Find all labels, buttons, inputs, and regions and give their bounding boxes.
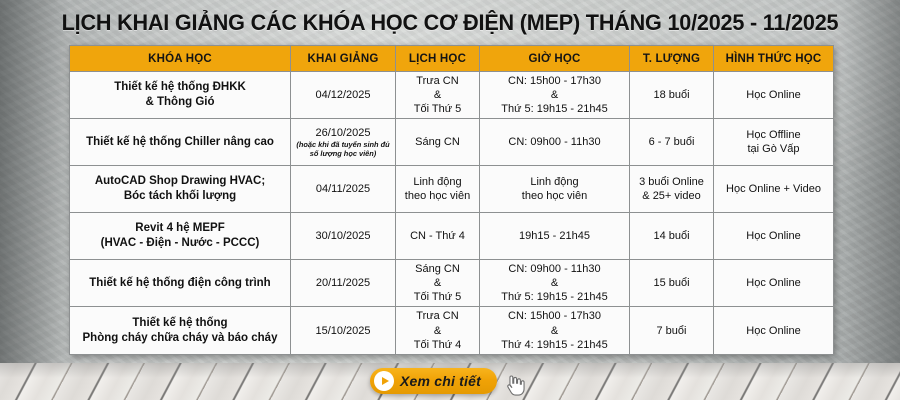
cell-hours: CN: 09h00 - 11h30	[480, 119, 630, 166]
schedule-line1: Trưa CN	[399, 309, 476, 323]
cell-start-date: 26/10/2025 (hoặc khi đã tuyển sinh đủ số…	[291, 119, 396, 166]
cell-course: AutoCAD Shop Drawing HVAC; Bóc tách khối…	[70, 166, 291, 213]
start-date-note: (hoặc khi đã tuyển sinh đủ số lượng học …	[294, 141, 392, 158]
course-schedule-table: KHÓA HỌC KHAI GIẢNG LỊCH HỌC GIỜ HỌC T. …	[69, 45, 834, 355]
cell-hours: 19h15 - 21h45	[480, 213, 630, 260]
column-header-schedule: LỊCH HỌC	[396, 46, 480, 72]
start-date: 04/11/2025	[294, 182, 392, 196]
cell-format: Học Online	[714, 260, 834, 307]
poster-canvas: LỊCH KHAI GIẢNG CÁC KHÓA HỌC CƠ ĐIỆN (ME…	[0, 0, 900, 400]
course-name-line2: Phòng cháy chữa cháy và báo cháy	[73, 331, 287, 346]
hours-line3: Thứ 5: 19h15 - 21h45	[483, 290, 626, 304]
table-row: Revit 4 hệ MEPF (HVAC - Điện - Nước - PC…	[70, 213, 834, 260]
cell-course: Thiết kế hệ thống Chiller nâng cao	[70, 119, 291, 166]
schedule-line2: theo học viên	[399, 189, 476, 203]
schedule-line1: Trưa CN	[399, 74, 476, 88]
schedule-line1: Sáng CN	[399, 135, 476, 149]
cell-duration: 7 buổi	[630, 307, 714, 354]
table-header-row: KHÓA HỌC KHAI GIẢNG LỊCH HỌC GIỜ HỌC T. …	[70, 46, 834, 72]
cell-hours: Linh động theo học viên	[480, 166, 630, 213]
course-name-line1: AutoCAD Shop Drawing HVAC;	[73, 174, 287, 189]
wall-shadow-right	[840, 0, 900, 366]
cell-format: Học Online	[714, 72, 834, 119]
schedule-line3: Tối Thứ 5	[399, 102, 476, 116]
cell-start-date: 30/10/2025	[291, 213, 396, 260]
schedule-line3: Tối Thứ 5	[399, 290, 476, 304]
duration-line1: 15 buổi	[633, 276, 710, 290]
course-name-line1: Thiết kế hệ thống Chiller nâng cao	[73, 135, 287, 150]
course-name-line1: Revit 4 hệ MEPF	[73, 221, 287, 236]
cell-start-date: 15/10/2025	[291, 307, 396, 354]
course-name-line1: Thiết kế hệ thống ĐHKK	[73, 80, 287, 95]
duration-line1: 6 - 7 buổi	[633, 135, 710, 149]
table-row: Thiết kế hệ thống Chiller nâng cao 26/10…	[70, 119, 834, 166]
schedule-line2: &	[399, 88, 476, 102]
format-line1: Học Online + Video	[717, 182, 830, 196]
cell-format: Học Online	[714, 307, 834, 354]
start-date: 15/10/2025	[294, 324, 392, 338]
cell-duration: 18 buổi	[630, 72, 714, 119]
hours-line2: &	[483, 276, 626, 290]
column-header-start: KHAI GIẢNG	[291, 46, 396, 72]
cell-start-date: 20/11/2025	[291, 260, 396, 307]
cell-duration: 15 buổi	[630, 260, 714, 307]
cell-course: Thiết kế hệ thống Phòng cháy chữa cháy v…	[70, 307, 291, 354]
schedule-line2: &	[399, 276, 476, 290]
course-name-line2: Bóc tách khối lượng	[73, 189, 287, 204]
duration-line1: 7 buổi	[633, 324, 710, 338]
course-name-line1: Thiết kế hệ thống	[73, 316, 287, 331]
schedule-line1: CN - Thứ 4	[399, 229, 476, 243]
column-header-format: HÌNH THỨC HỌC	[714, 46, 834, 72]
cell-format: Học Online + Video	[714, 166, 834, 213]
duration-line1: 14 buổi	[633, 229, 710, 243]
cell-hours: CN: 15h00 - 17h30 & Thứ 5: 19h15 - 21h45	[480, 72, 630, 119]
duration-line2: & 25+ video	[633, 189, 710, 203]
view-details-button[interactable]: Xem chi tiết	[370, 368, 497, 394]
schedule-line2: &	[399, 324, 476, 338]
cell-start-date: 04/12/2025	[291, 72, 396, 119]
play-circle-icon	[374, 371, 394, 391]
schedule-table-container: KHÓA HỌC KHAI GIẢNG LỊCH HỌC GIỜ HỌC T. …	[69, 45, 833, 355]
hours-line1: CN: 15h00 - 17h30	[483, 74, 626, 88]
cell-format: Học Offline tại Gò Vấp	[714, 119, 834, 166]
format-line1: Học Online	[717, 88, 830, 102]
course-name-line2: & Thông Gió	[73, 95, 287, 110]
cell-schedule: Trưa CN & Tối Thứ 5	[396, 72, 480, 119]
hours-line1: CN: 09h00 - 11h30	[483, 262, 626, 276]
cell-schedule: Linh động theo học viên	[396, 166, 480, 213]
cell-duration: 3 buổi Online & 25+ video	[630, 166, 714, 213]
cell-course: Thiết kế hệ thống ĐHKK & Thông Gió	[70, 72, 291, 119]
start-date: 04/12/2025	[294, 88, 392, 102]
hours-line2: &	[483, 324, 626, 338]
format-line1: Học Online	[717, 324, 830, 338]
duration-line1: 3 buổi Online	[633, 175, 710, 189]
schedule-line1: Linh động	[399, 175, 476, 189]
cell-schedule: Trưa CN & Tối Thứ 4	[396, 307, 480, 354]
duration-line1: 18 buổi	[633, 88, 710, 102]
hours-line1: CN: 09h00 - 11h30	[483, 135, 626, 149]
cell-schedule: Sáng CN	[396, 119, 480, 166]
hours-line3: Thứ 4: 19h15 - 21h45	[483, 338, 626, 352]
view-details-label: Xem chi tiết	[400, 373, 481, 389]
table-row: Thiết kế hệ thống điện công trình 20/11/…	[70, 260, 834, 307]
hours-line1: Linh động	[483, 175, 626, 189]
hours-line2: &	[483, 88, 626, 102]
hours-line3: Thứ 5: 19h15 - 21h45	[483, 102, 626, 116]
start-date: 26/10/2025	[294, 126, 392, 140]
table-row: AutoCAD Shop Drawing HVAC; Bóc tách khối…	[70, 166, 834, 213]
format-line1: Học Online	[717, 276, 830, 290]
cell-hours: CN: 09h00 - 11h30 & Thứ 5: 19h15 - 21h45	[480, 260, 630, 307]
cell-duration: 6 - 7 buổi	[630, 119, 714, 166]
format-line2: tại Gò Vấp	[717, 142, 830, 156]
table-row: Thiết kế hệ thống Phòng cháy chữa cháy v…	[70, 307, 834, 354]
column-header-hours: GIỜ HỌC	[480, 46, 630, 72]
cell-duration: 14 buổi	[630, 213, 714, 260]
schedule-line1: Sáng CN	[399, 262, 476, 276]
cell-schedule: Sáng CN & Tối Thứ 5	[396, 260, 480, 307]
cell-course: Revit 4 hệ MEPF (HVAC - Điện - Nước - PC…	[70, 213, 291, 260]
column-header-course: KHÓA HỌC	[70, 46, 291, 72]
cell-schedule: CN - Thứ 4	[396, 213, 480, 260]
table-row: Thiết kế hệ thống ĐHKK & Thông Gió 04/12…	[70, 72, 834, 119]
hours-line2: theo học viên	[483, 189, 626, 203]
course-name-line1: Thiết kế hệ thống điện công trình	[73, 276, 287, 291]
hours-line1: 19h15 - 21h45	[483, 229, 626, 243]
start-date: 30/10/2025	[294, 229, 392, 243]
start-date: 20/11/2025	[294, 276, 392, 290]
cell-course: Thiết kế hệ thống điện công trình	[70, 260, 291, 307]
hours-line1: CN: 15h00 - 17h30	[483, 309, 626, 323]
column-header-duration: T. LƯỢNG	[630, 46, 714, 72]
page-title: LỊCH KHAI GIẢNG CÁC KHÓA HỌC CƠ ĐIỆN (ME…	[18, 10, 882, 36]
wall-shadow-left	[0, 0, 70, 366]
format-line1: Học Offline	[717, 128, 830, 142]
format-line1: Học Online	[717, 229, 830, 243]
cell-start-date: 04/11/2025	[291, 166, 396, 213]
cell-format: Học Online	[714, 213, 834, 260]
schedule-line3: Tối Thứ 4	[399, 338, 476, 352]
course-name-line2: (HVAC - Điện - Nước - PCCC)	[73, 236, 287, 251]
cell-hours: CN: 15h00 - 17h30 & Thứ 4: 19h15 - 21h45	[480, 307, 630, 354]
